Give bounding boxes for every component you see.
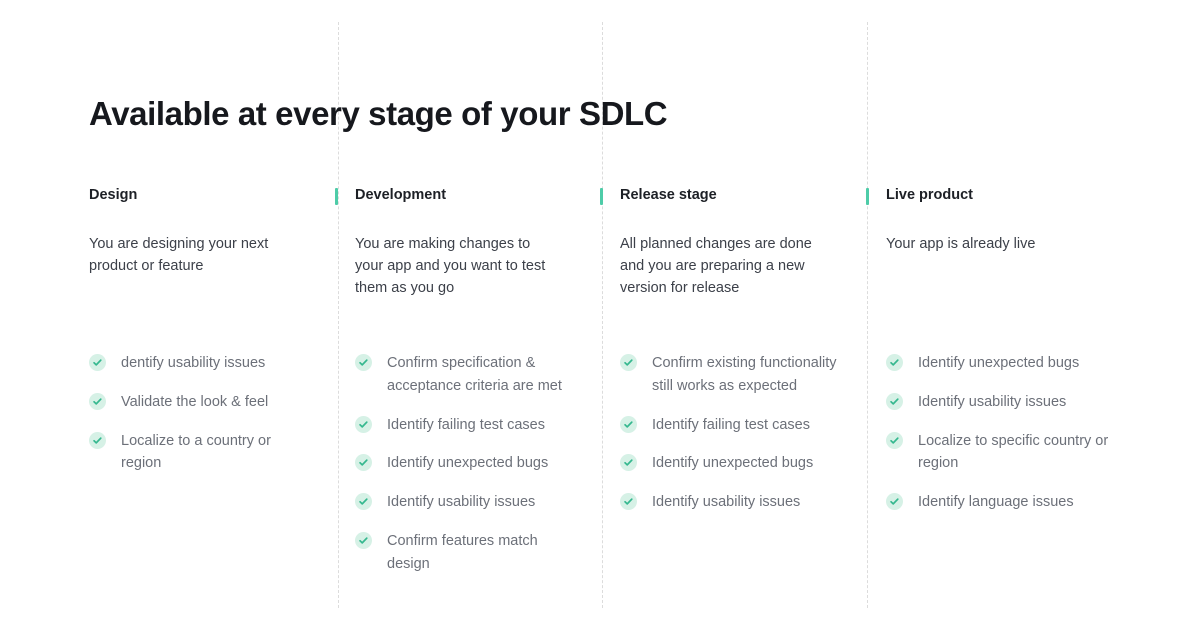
list-item: Confirm features match design bbox=[355, 530, 587, 576]
list-item-label: Identify usability issues bbox=[652, 491, 842, 514]
stage-header-label: Development bbox=[355, 187, 446, 203]
list-item-label: Identify usability issues bbox=[918, 391, 1133, 414]
check-circle-icon bbox=[355, 354, 372, 371]
accent-bar-icon bbox=[600, 188, 603, 205]
list-item-label: Identify unexpected bugs bbox=[652, 452, 842, 475]
stage-header-label: Release stage bbox=[620, 187, 717, 203]
check-circle-icon bbox=[620, 493, 637, 510]
list-item: Localize to specific country or region bbox=[886, 430, 1134, 476]
list-item-label: Localize to a country or region bbox=[121, 430, 311, 476]
stage-description-design: You are designing your next product or f… bbox=[89, 233, 294, 277]
checklist-development: Confirm specification & acceptance crite… bbox=[355, 352, 587, 591]
check-circle-icon bbox=[89, 393, 106, 410]
check-circle-icon bbox=[355, 532, 372, 549]
stage-description-development: You are making changes to your app and y… bbox=[355, 233, 560, 300]
list-item: Identify unexpected bugs bbox=[620, 452, 852, 475]
check-circle-icon bbox=[355, 454, 372, 471]
stage-header-design: Design bbox=[89, 186, 321, 206]
check-circle-icon bbox=[355, 416, 372, 433]
stage-header-release-stage: Release stage bbox=[620, 186, 852, 206]
list-item-label: Identify unexpected bugs bbox=[387, 452, 577, 475]
list-item-label: Confirm specification & acceptance crite… bbox=[387, 352, 577, 398]
list-item-label: Confirm features match design bbox=[387, 530, 577, 576]
list-item: Identify failing test cases bbox=[620, 414, 852, 437]
stage-column-release-stage: Release stageAll planned changes are don… bbox=[620, 186, 852, 314]
list-item-label: Identify language issues bbox=[918, 491, 1133, 514]
list-item: Identify usability issues bbox=[620, 491, 852, 514]
check-circle-icon bbox=[620, 354, 637, 371]
accent-bar-icon bbox=[866, 188, 869, 205]
list-item: Validate the look & feel bbox=[89, 391, 321, 414]
list-item-label: dentify usability issues bbox=[121, 352, 311, 375]
slide-canvas: Available at every stage of your SDLC De… bbox=[0, 0, 1200, 630]
list-item: Identify unexpected bugs bbox=[886, 352, 1134, 375]
checklist-design: dentify usability issuesValidate the loo… bbox=[89, 352, 321, 491]
checklist-release-stage: Confirm existing functionality still wor… bbox=[620, 352, 852, 530]
check-circle-icon bbox=[89, 432, 106, 449]
stage-column-design: DesignYou are designing your next produc… bbox=[89, 186, 321, 292]
check-circle-icon bbox=[886, 432, 903, 449]
page-title: Available at every stage of your SDLC bbox=[89, 94, 667, 134]
list-item: Identify usability issues bbox=[355, 491, 587, 514]
accent-bar-icon bbox=[335, 188, 338, 205]
list-item-label: Identify failing test cases bbox=[387, 414, 577, 437]
stage-header-live-product: Live product bbox=[886, 186, 1134, 206]
check-circle-icon bbox=[89, 354, 106, 371]
list-item: Identify failing test cases bbox=[355, 414, 587, 437]
list-item-label: Identify unexpected bugs bbox=[918, 352, 1133, 375]
stage-column-live-product: Live productYour app is already liveIden… bbox=[886, 186, 1134, 270]
column-divider-3 bbox=[867, 22, 868, 608]
list-item: Confirm specification & acceptance crite… bbox=[355, 352, 587, 398]
check-circle-icon bbox=[886, 393, 903, 410]
stage-header-label: Design bbox=[89, 187, 137, 203]
check-circle-icon bbox=[886, 493, 903, 510]
list-item: Localize to a country or region bbox=[89, 430, 321, 476]
list-item-label: Identify usability issues bbox=[387, 491, 577, 514]
stage-header-development: Development bbox=[355, 186, 587, 206]
list-item: dentify usability issues bbox=[89, 352, 321, 375]
list-item: Confirm existing functionality still wor… bbox=[620, 352, 852, 398]
list-item: Identify language issues bbox=[886, 491, 1134, 514]
stage-description-live-product: Your app is already live bbox=[886, 233, 1116, 255]
stage-description-release-stage: All planned changes are done and you are… bbox=[620, 233, 825, 300]
list-item-label: Identify failing test cases bbox=[652, 414, 842, 437]
list-item-label: Localize to specific country or region bbox=[918, 430, 1133, 476]
check-circle-icon bbox=[355, 493, 372, 510]
checklist-live-product: Identify unexpected bugsIdentify usabili… bbox=[886, 352, 1134, 530]
list-item: Identify usability issues bbox=[886, 391, 1134, 414]
stage-column-development: DevelopmentYou are making changes to you… bbox=[355, 186, 587, 314]
list-item-label: Confirm existing functionality still wor… bbox=[652, 352, 842, 398]
stage-header-label: Live product bbox=[886, 187, 973, 203]
check-circle-icon bbox=[620, 454, 637, 471]
check-circle-icon bbox=[620, 416, 637, 433]
list-item: Identify unexpected bugs bbox=[355, 452, 587, 475]
list-item-label: Validate the look & feel bbox=[121, 391, 311, 414]
check-circle-icon bbox=[886, 354, 903, 371]
